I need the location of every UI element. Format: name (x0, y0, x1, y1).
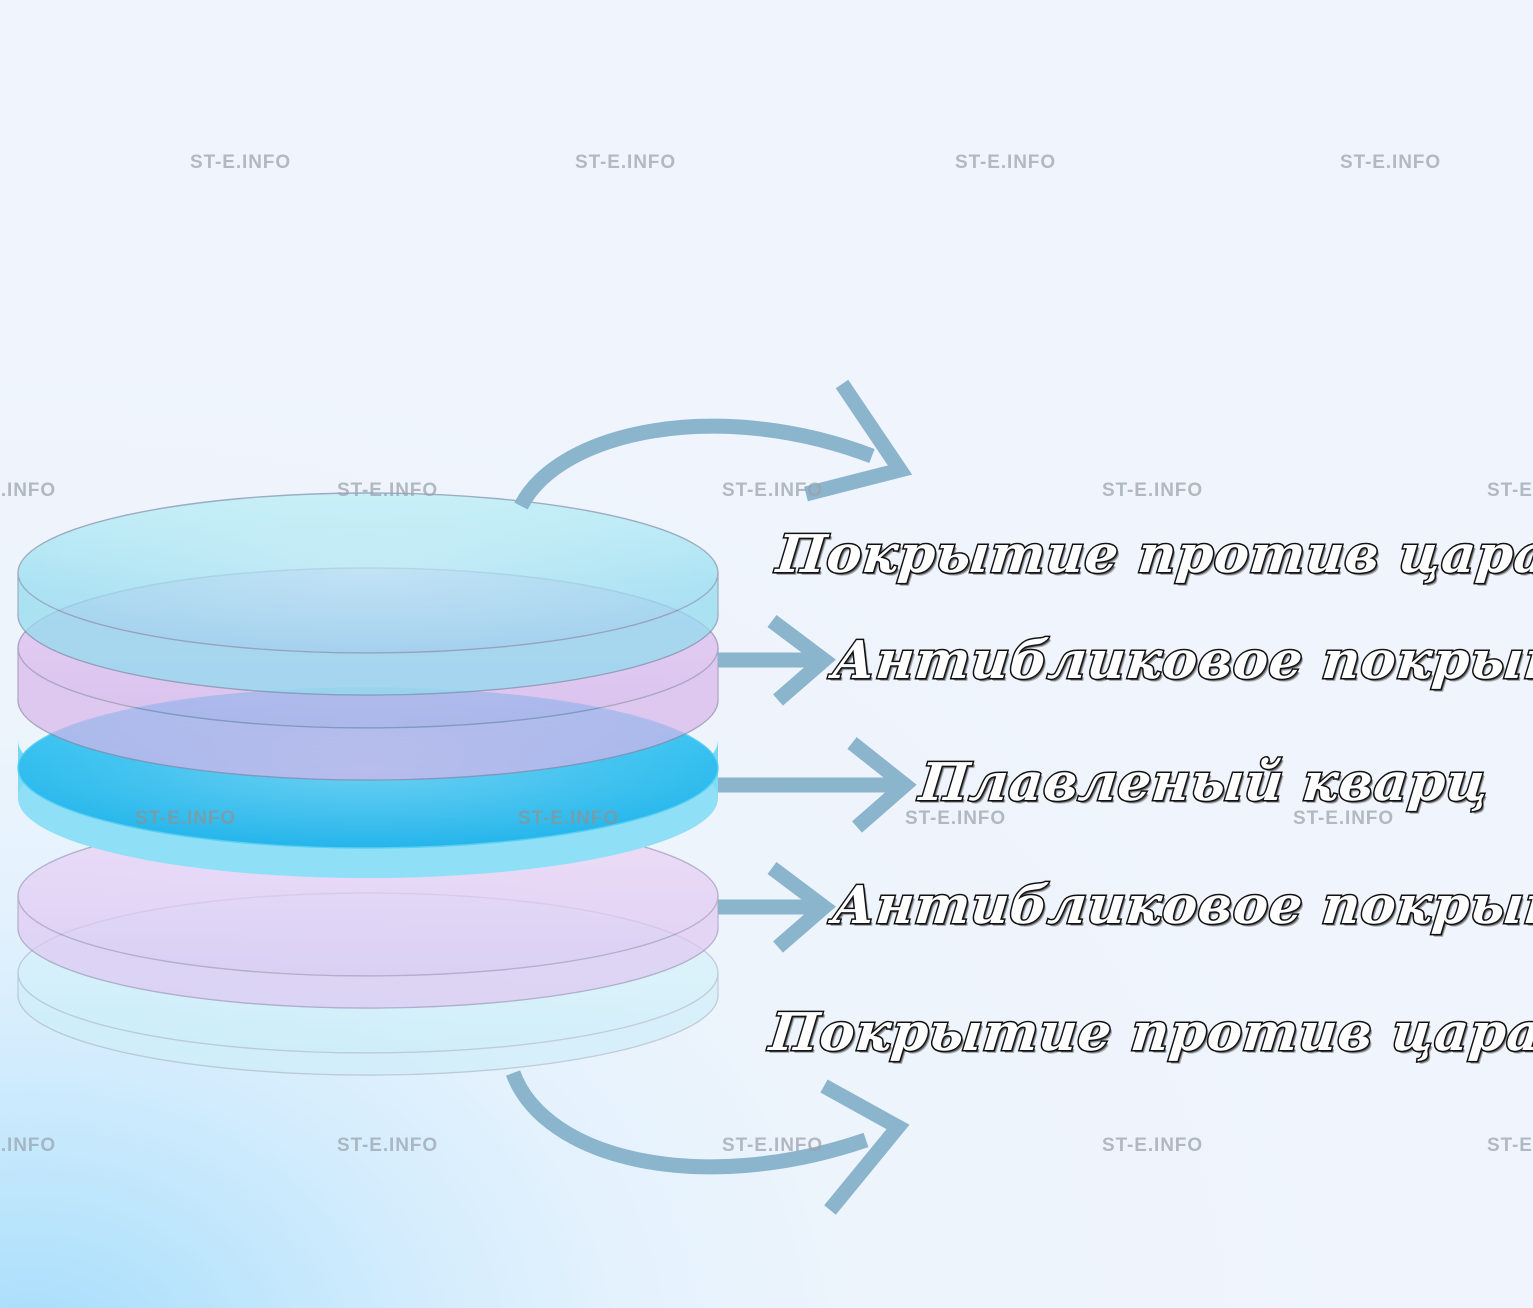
watermark: ST-E.INFO (1102, 480, 1203, 502)
watermark: ST-E.INFO (722, 480, 823, 502)
watermark: ST-E.INFO (337, 1135, 438, 1157)
arrow-bottom-curved (513, 1073, 898, 1210)
watermark: ST-E.INFO (1487, 480, 1533, 502)
label-bottom-scratch-coat: Покрытие против царапин (767, 1002, 1533, 1063)
watermark: ST-E.INFO (518, 808, 619, 830)
watermark: ST-E.INFO (135, 808, 236, 830)
disc-top-scratch-coat (18, 493, 718, 695)
watermark: ST-E.INFO (722, 1135, 823, 1157)
watermark: ST-E.INFO (1487, 1135, 1533, 1157)
watermark: ST-E.INFO (955, 152, 1056, 174)
watermark: ST-E.INFO (0, 480, 56, 502)
diagram-canvas: ST-E.INFO ST-E.INFO ST-E.INFO ST-E.INFO … (0, 0, 1533, 1308)
arrow-top-curved (521, 384, 900, 506)
label-lower-ar-coat: Антибликовое покрытие (830, 875, 1533, 936)
watermark: ST-E.INFO (575, 152, 676, 174)
watermark: ST-E.INFO (190, 152, 291, 174)
label-top-scratch-coat: Покрытие против царапин (774, 524, 1533, 585)
watermark: ST-E.INFO (1340, 152, 1441, 174)
label-upper-ar-coat: Антибликовое покрытие (830, 630, 1533, 691)
label-fused-quartz: Плавленый кварц (917, 752, 1492, 813)
watermark: ST-E.INFO (0, 1135, 56, 1157)
arrow-quartz (718, 743, 905, 827)
watermark: ST-E.INFO (337, 480, 438, 502)
watermark: ST-E.INFO (1102, 1135, 1203, 1157)
arrow-upper-ar (718, 621, 824, 700)
arrow-lower-ar (718, 868, 824, 947)
